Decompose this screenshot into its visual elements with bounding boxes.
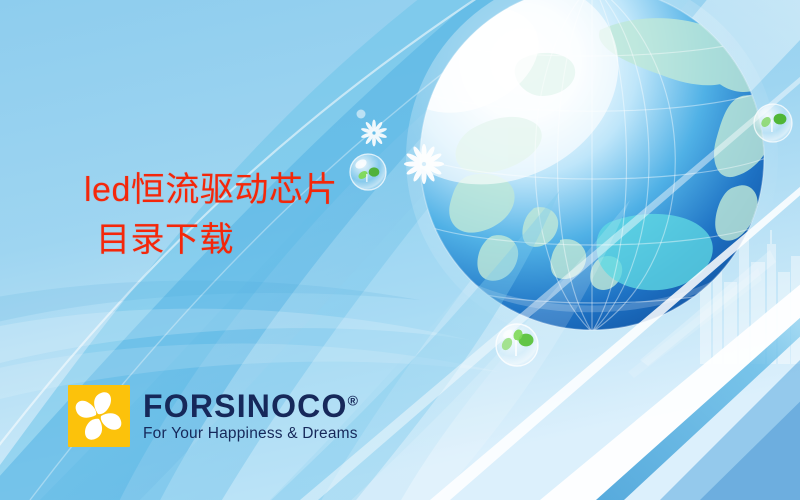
light-ray-2: [628, 268, 762, 378]
longitude-lines: [535, 0, 675, 332]
logo-wordmark: FORSINOCO® For Your Happiness & Dreams: [143, 390, 358, 442]
australia: [597, 214, 721, 319]
latitude-lines: [420, 36, 768, 303]
logo-company-name-text: FORSINOCO: [143, 388, 348, 424]
city-skyline-silhouette: [700, 224, 800, 364]
swirl-front-2: [330, 200, 630, 500]
blue-earth-globe: [349, 0, 778, 344]
wave-3: [0, 280, 420, 326]
bubble-with-sprout-lower: [496, 324, 538, 366]
forsinoco-pinwheel-mark: [68, 385, 130, 447]
bubble-with-sprout-right: [754, 104, 792, 142]
logo-company-name: FORSINOCO®: [143, 390, 358, 422]
white-sparkle-flower-1: [404, 144, 444, 184]
wave-1: [0, 309, 470, 368]
light-ray-1: [640, 250, 776, 366]
bubble-with-sprout-upper: [350, 154, 386, 190]
registered-trademark-icon: ®: [348, 393, 358, 409]
company-logo[interactable]: FORSINOCO® For Your Happiness & Dreams: [68, 385, 358, 447]
globe-rim-light: [444, 264, 740, 312]
globe-highlight: [349, 0, 652, 221]
continents: [449, 18, 774, 290]
white-sparkle-dot: [357, 110, 366, 119]
headline-line-1: led恒流驱动芯片: [84, 171, 338, 209]
headline-text: led恒流驱动芯片目录下载: [84, 166, 338, 265]
white-sparkle-flower-2: [361, 120, 388, 147]
diagonal-white-ribbons: [300, 60, 800, 500]
logo-tagline: For Your Happiness & Dreams: [143, 426, 358, 442]
headline-line-2: 目录下载: [84, 216, 338, 266]
promo-banner: led恒流驱动芯片目录下载 FORSINOCO® For Your Happin…: [0, 0, 800, 500]
